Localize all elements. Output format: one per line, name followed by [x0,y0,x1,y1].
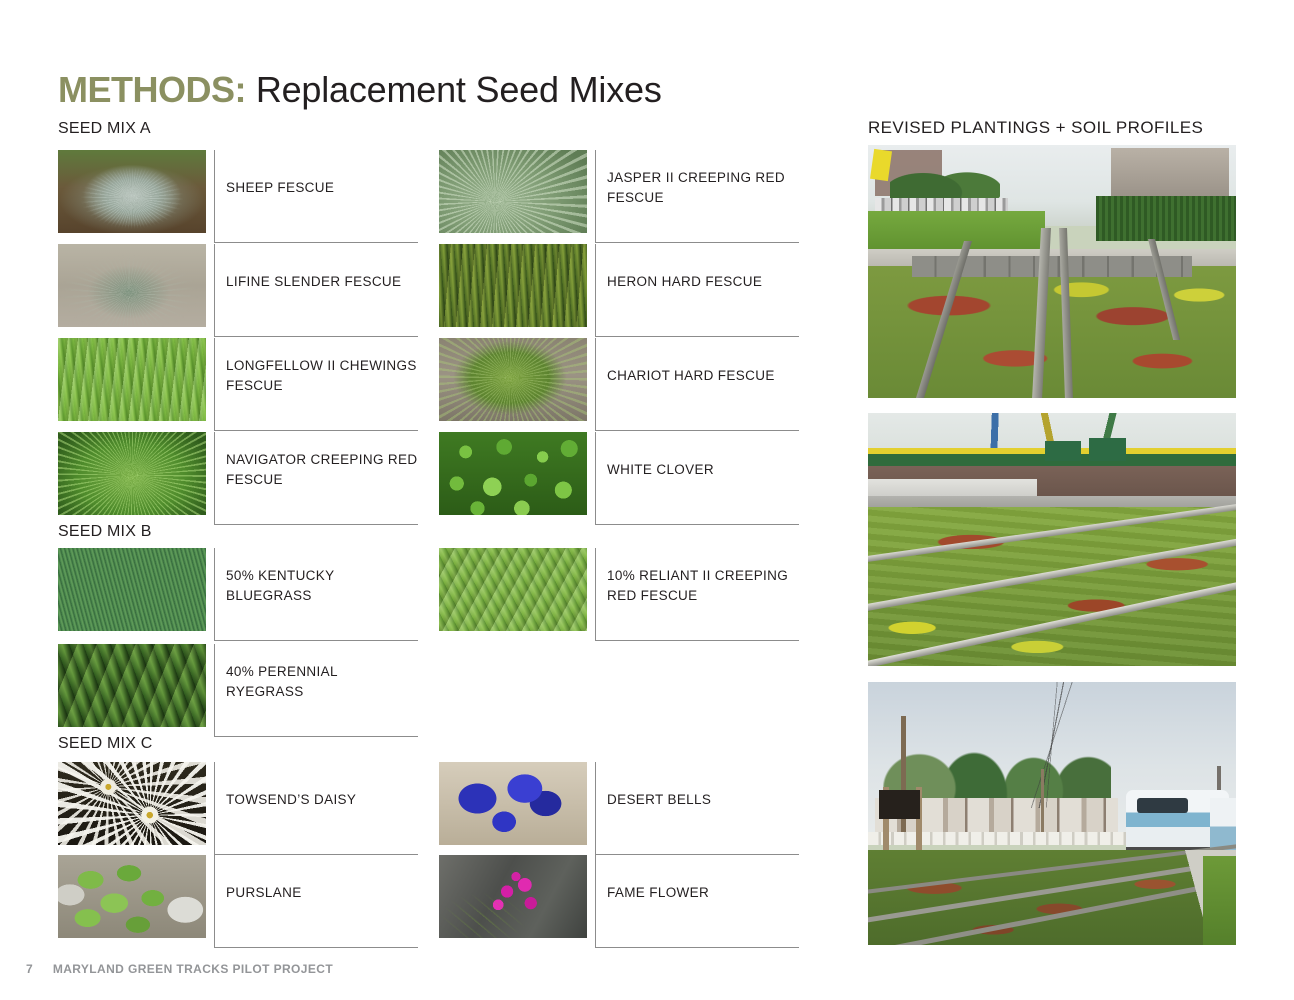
seed-item-info: WHITE CLOVER [595,432,799,525]
seed-item-info: JASPER II CREEPING RED FESCUE [595,150,799,243]
seed-item-divider [215,336,418,337]
seed-item-divider [596,524,799,525]
seed-item-label: NAVIGATOR CREEPING RED FESCUE [215,450,418,489]
seed-item-info: NAVIGATOR CREEPING RED FESCUE [214,432,418,525]
seed-item-purslane: PURSLANE [58,855,418,948]
seed-item-info: LONGFELLOW II CHEWINGS FESCUE [214,338,418,431]
seed-item-lifine-slender-fescue: LIFINE SLENDER FESCUE [58,244,418,337]
seed-mix-a-heading: SEED MIX A [58,120,151,138]
page-title-subtitle: Replacement Seed Mixes [256,69,662,110]
seed-item-longfellow-chewings-fescue: LONGFELLOW II CHEWINGS FESCUE [58,338,418,431]
lifine-slender-fescue-photo [58,244,206,327]
seed-item-info: 50% KENTUCKY BLUEGRASS [214,548,418,641]
seed-item-perennial-ryegrass: 40% PERENNIAL RYEGRASS [58,644,418,737]
seed-item-label: TOWSEND’S DAISY [215,790,356,810]
seed-item-jasper-creeping-red-fescue: JASPER II CREEPING RED FESCUE [439,150,799,243]
chariot-hard-fescue-photo [439,338,587,421]
reliant-creeping-red-fescue-photo [439,548,587,631]
purslane-photo [58,855,206,938]
seed-item-label: PURSLANE [215,883,302,903]
seed-item-info: 40% PERENNIAL RYEGRASS [214,644,418,737]
heron-hard-fescue-photo [439,244,587,327]
revised-plantings-heading: REVISED PLANTINGS + SOIL PROFILES [868,118,1203,138]
jasper-creeping-red-fescue-photo [439,150,587,233]
seed-item-divider [596,640,799,641]
seed-item-label: 10% RELIANT II CREEPING RED FESCUE [596,566,799,605]
seed-item-divider [596,430,799,431]
seed-item-divider [215,736,418,737]
page-title-prefix: METHODS: [58,69,246,110]
navigator-creeping-red-fescue-photo [58,432,206,515]
seed-item-label: LONGFELLOW II CHEWINGS FESCUE [215,356,418,395]
seed-item-info: PURSLANE [214,855,418,948]
seed-item-label: SHEEP FESCUE [215,178,334,198]
white-clover-photo [439,432,587,515]
seed-item-white-clover: WHITE CLOVER [439,432,799,525]
seed-item-label: HERON HARD FESCUE [596,272,762,292]
seed-item-label: LIFINE SLENDER FESCUE [215,272,401,292]
longfellow-chewings-fescue-photo [58,338,206,421]
seed-item-divider [596,336,799,337]
seed-item-label: DESERT BELLS [596,790,711,810]
page-title: METHODS: Replacement Seed Mixes [58,71,662,109]
seed-item-fame-flower: FAME FLOWER [439,855,799,948]
seed-item-label: 40% PERENNIAL RYEGRASS [215,662,418,701]
seed-item-info: CHARIOT HARD FESCUE [595,338,799,431]
seed-item-label: WHITE CLOVER [596,460,714,480]
seed-mix-c-heading: SEED MIX C [58,735,152,753]
project-name: MARYLAND GREEN TRACKS PILOT PROJECT [53,962,333,976]
seed-item-heron-hard-fescue: HERON HARD FESCUE [439,244,799,337]
seed-item-kentucky-bluegrass: 50% KENTUCKY BLUEGRASS [58,548,418,641]
seed-mix-b-heading: SEED MIX B [58,523,152,541]
seed-item-divider [215,640,418,641]
seed-item-towsends-daisy: TOWSEND’S DAISY [58,762,418,855]
seed-item-divider [596,947,799,948]
footer: 7 MARYLAND GREEN TRACKS PILOT PROJECT [26,962,333,976]
seed-item-info: HERON HARD FESCUE [595,244,799,337]
seed-item-info: TOWSEND’S DAISY [214,762,418,855]
seed-item-divider [215,242,418,243]
seed-item-reliant-creeping-red-fescue: 10% RELIANT II CREEPING RED FESCUE [439,548,799,641]
seed-item-divider [215,524,418,525]
seed-item-label: CHARIOT HARD FESCUE [596,366,775,386]
seed-item-info: LIFINE SLENDER FESCUE [214,244,418,337]
seed-item-divider [215,430,418,431]
seed-item-divider [215,947,418,948]
seed-item-label: 50% KENTUCKY BLUEGRASS [215,566,418,605]
light-rail-train-green-track-photo [868,682,1236,945]
page-number: 7 [26,962,33,976]
sheep-fescue-photo [58,150,206,233]
bridge-sedum-track-photo [868,413,1236,666]
seed-item-info: DESERT BELLS [595,762,799,855]
seed-item-info: FAME FLOWER [595,855,799,948]
seed-item-navigator-creeping-red-fescue: NAVIGATOR CREEPING RED FESCUE [58,432,418,525]
kentucky-bluegrass-photo [58,548,206,631]
towsends-daisy-photo [58,762,206,845]
seed-item-info: 10% RELIANT II CREEPING RED FESCUE [595,548,799,641]
seed-item-label: JASPER II CREEPING RED FESCUE [596,168,799,207]
street-crossing-green-track-photo [868,145,1236,398]
seed-item-divider [596,242,799,243]
fame-flower-photo [439,855,587,938]
seed-item-desert-bells: DESERT BELLS [439,762,799,855]
desert-bells-photo [439,762,587,845]
seed-item-sheep-fescue: SHEEP FESCUE [58,150,418,243]
seed-item-info: SHEEP FESCUE [214,150,418,243]
perennial-ryegrass-photo [58,644,206,727]
seed-item-chariot-hard-fescue: CHARIOT HARD FESCUE [439,338,799,431]
seed-item-label: FAME FLOWER [596,883,709,903]
